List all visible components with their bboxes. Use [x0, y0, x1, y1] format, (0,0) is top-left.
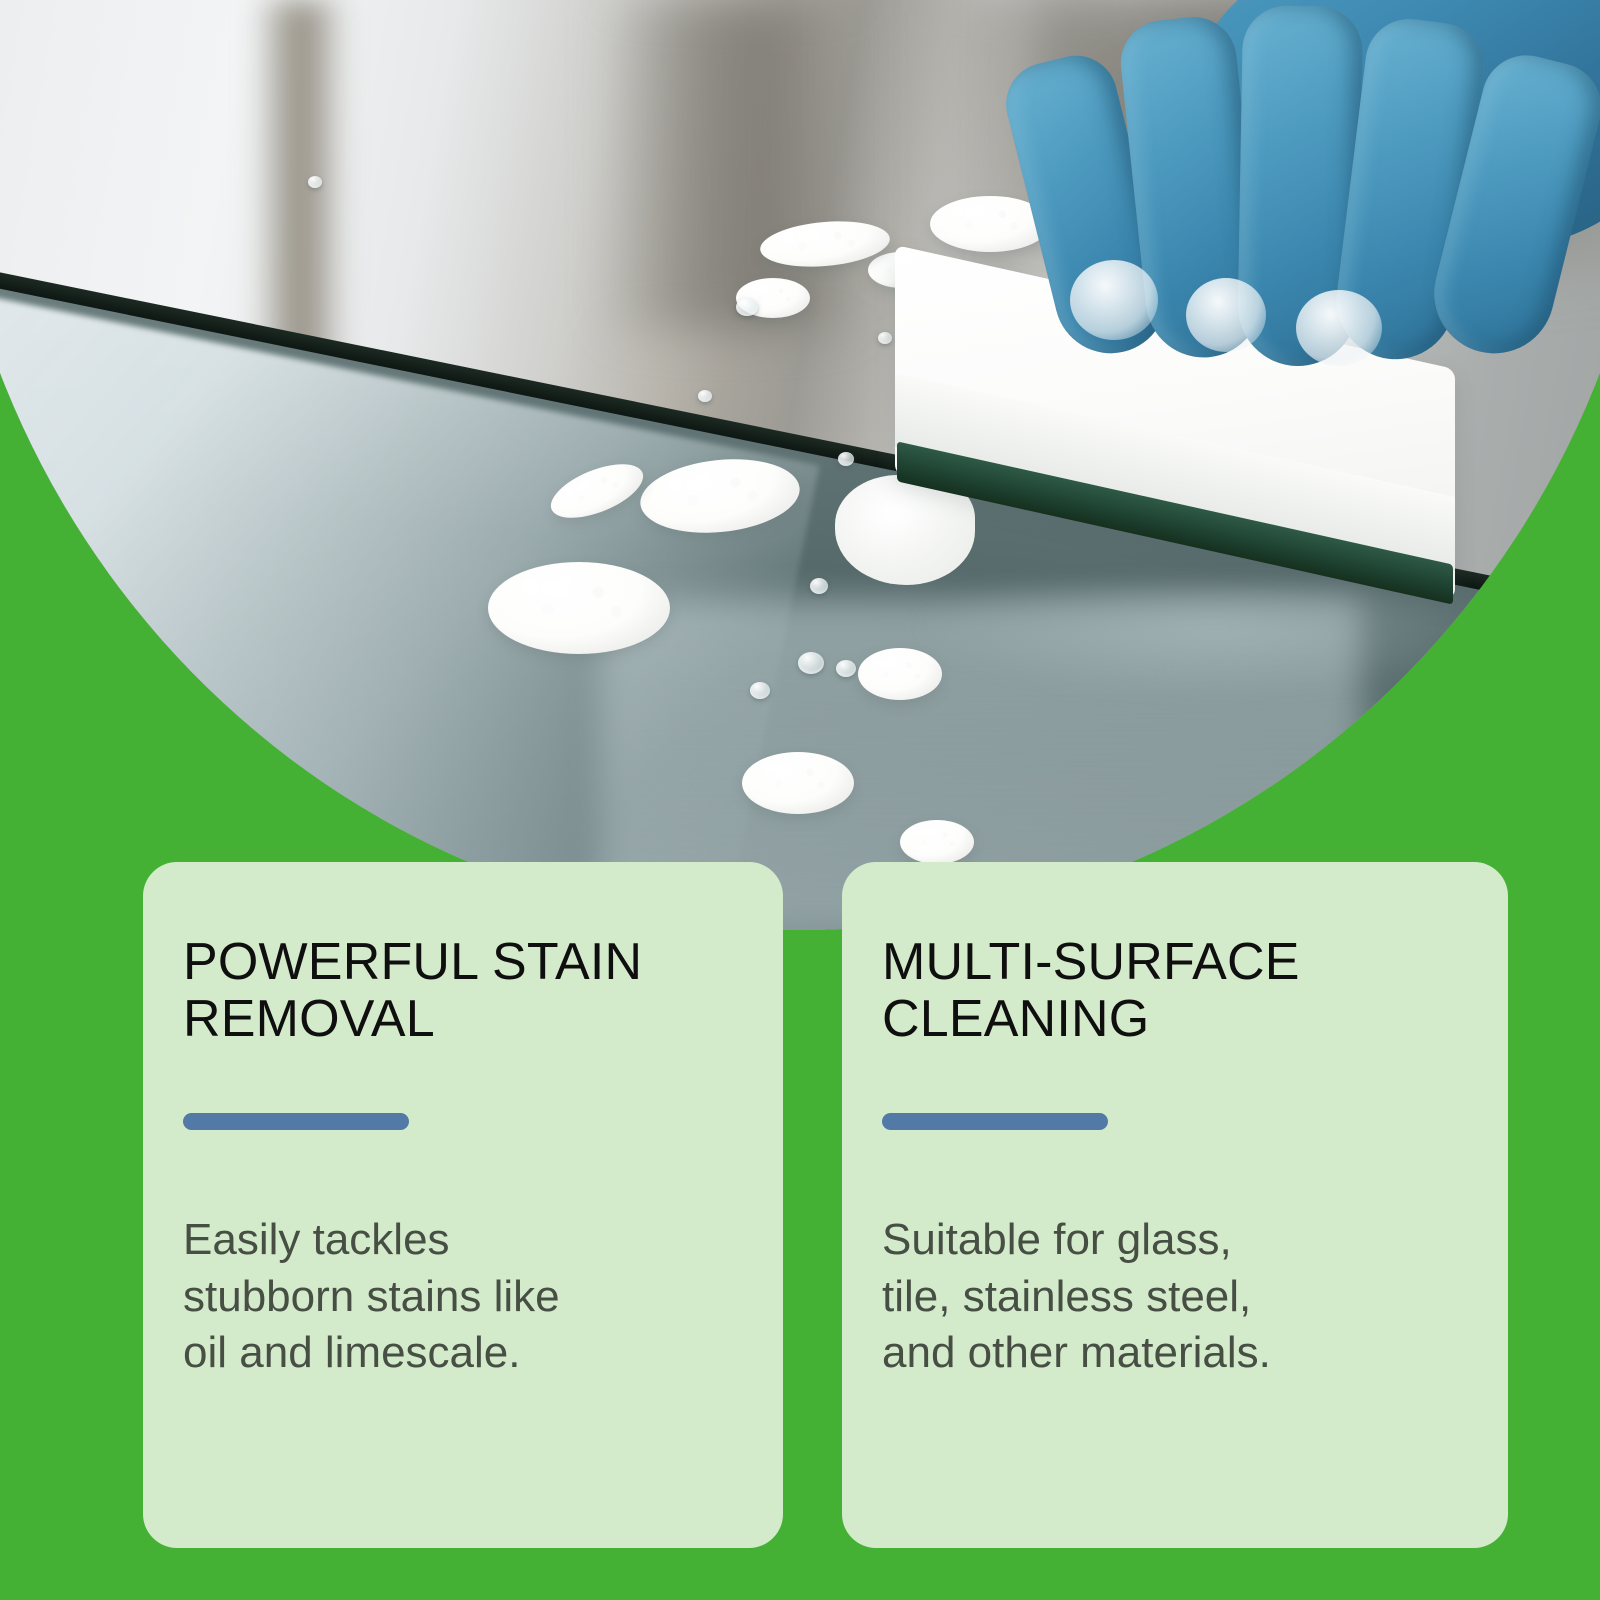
water-droplet: [836, 660, 856, 677]
water-droplet: [308, 176, 322, 188]
water-droplet: [750, 682, 770, 699]
foam-blob: [900, 820, 974, 864]
feature-card-description: Suitable for glass, tile, stainless stee…: [882, 1212, 1468, 1381]
foam-on-glove: [1070, 260, 1158, 340]
feature-card-multi-surface-cleaning[interactable]: MULTI-SURFACE CLEANING Suitable for glas…: [842, 862, 1508, 1548]
feature-card-divider: [882, 1113, 1108, 1130]
water-droplet: [838, 452, 854, 466]
foam-on-glove: [1186, 278, 1266, 352]
rubber-glove-hand: [1010, 0, 1600, 460]
water-droplet: [736, 298, 758, 316]
feature-card-description: Easily tackles stubborn stains like oil …: [183, 1212, 743, 1381]
feature-card-title: MULTI-SURFACE CLEANING: [882, 934, 1468, 1047]
hero-photo: [0, 0, 1600, 930]
foam-blob: [742, 752, 854, 814]
foam-blob: [488, 562, 670, 654]
window-frame-band-2: [600, 0, 860, 330]
water-droplet: [698, 390, 712, 402]
water-droplet: [798, 652, 824, 674]
water-droplet: [810, 578, 828, 594]
infographic-root: POWERFUL STAIN REMOVAL Easily tackles st…: [0, 0, 1600, 1600]
feature-card-title: POWERFUL STAIN REMOVAL: [183, 934, 743, 1047]
feature-card-powerful-stain-removal[interactable]: POWERFUL STAIN REMOVAL Easily tackles st…: [143, 862, 783, 1548]
foam-on-glove: [1296, 290, 1382, 366]
feature-card-divider: [183, 1113, 409, 1130]
sponge-shadow: [915, 585, 1515, 695]
